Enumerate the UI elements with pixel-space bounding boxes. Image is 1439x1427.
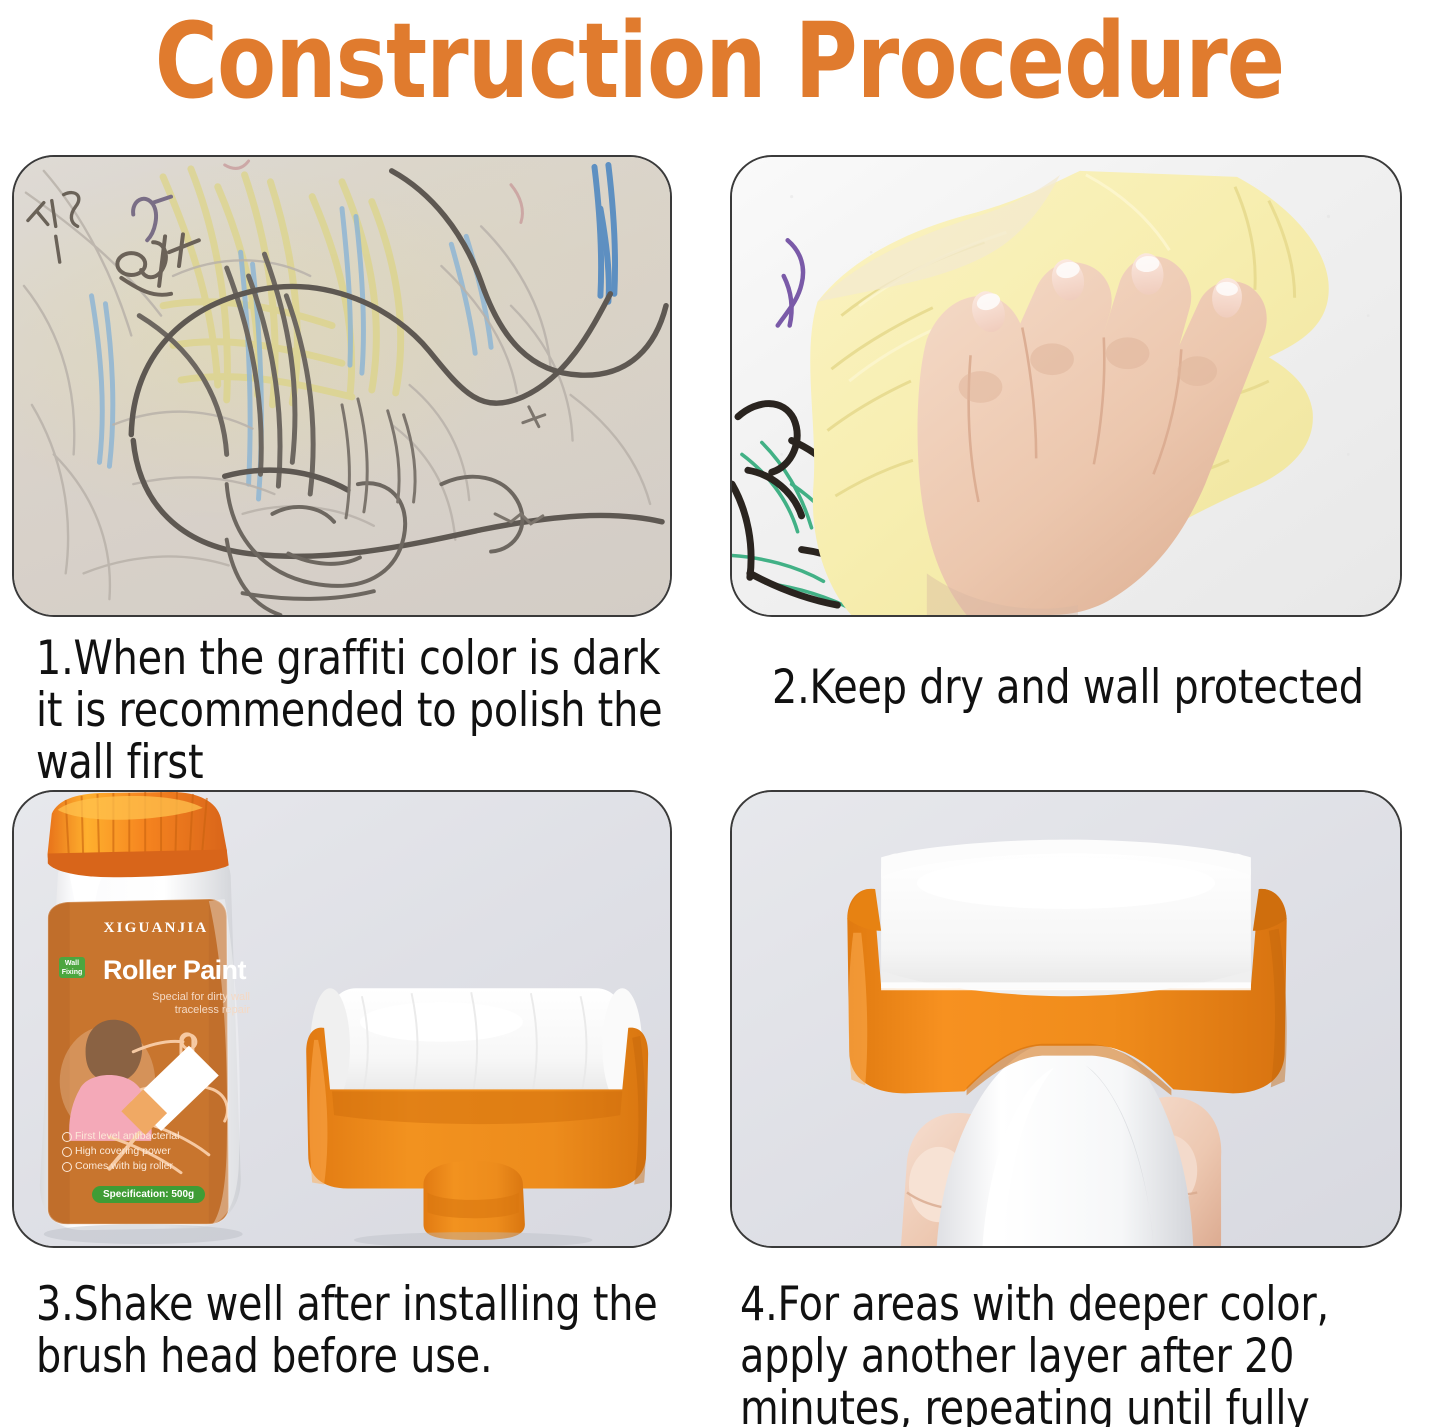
graffiti-wall-photo	[14, 157, 670, 615]
product-feature-item: First level antibacterial	[62, 1129, 232, 1144]
step-1-image	[12, 155, 672, 617]
product-name: Roller Paint	[76, 955, 256, 986]
product-specification: Specification: 500g	[92, 1186, 205, 1203]
photo-frame-bottle-and-roller	[12, 790, 672, 1248]
photo-frame-wiping-wall	[730, 155, 1402, 617]
holding-tool-photo	[732, 792, 1400, 1246]
step-3-image	[12, 790, 672, 1248]
page-title: Construction Procedure	[58, 2, 1382, 120]
step-3-caption: 3.Shake well after installing the brush …	[36, 1279, 694, 1383]
product-features: First level antibacterial High covering …	[62, 1129, 232, 1174]
bottle-and-roller-photo	[14, 792, 670, 1246]
step-4-caption: 4.For areas with deeper color, apply ano…	[740, 1279, 1407, 1427]
product-instruction-page: Construction Procedure	[0, 0, 1439, 1427]
step-2-caption: 2.Keep dry and wall protected	[772, 662, 1421, 714]
product-feature-item: High covering power	[62, 1144, 232, 1159]
product-subtitle: Special for dirty wall traceless repair	[120, 991, 250, 1017]
step-2-image	[730, 155, 1402, 617]
wiping-wall-photo	[732, 157, 1400, 615]
product-feature-item: Comes with big roller	[62, 1159, 232, 1174]
photo-frame-holding-tool	[730, 790, 1402, 1248]
photo-frame-graffiti-wall	[12, 155, 672, 617]
step-1-caption: 1.When the graffiti color is dark it is …	[36, 633, 694, 789]
product-brand: XIGUANJIA	[66, 920, 246, 937]
step-4-image	[730, 790, 1402, 1248]
